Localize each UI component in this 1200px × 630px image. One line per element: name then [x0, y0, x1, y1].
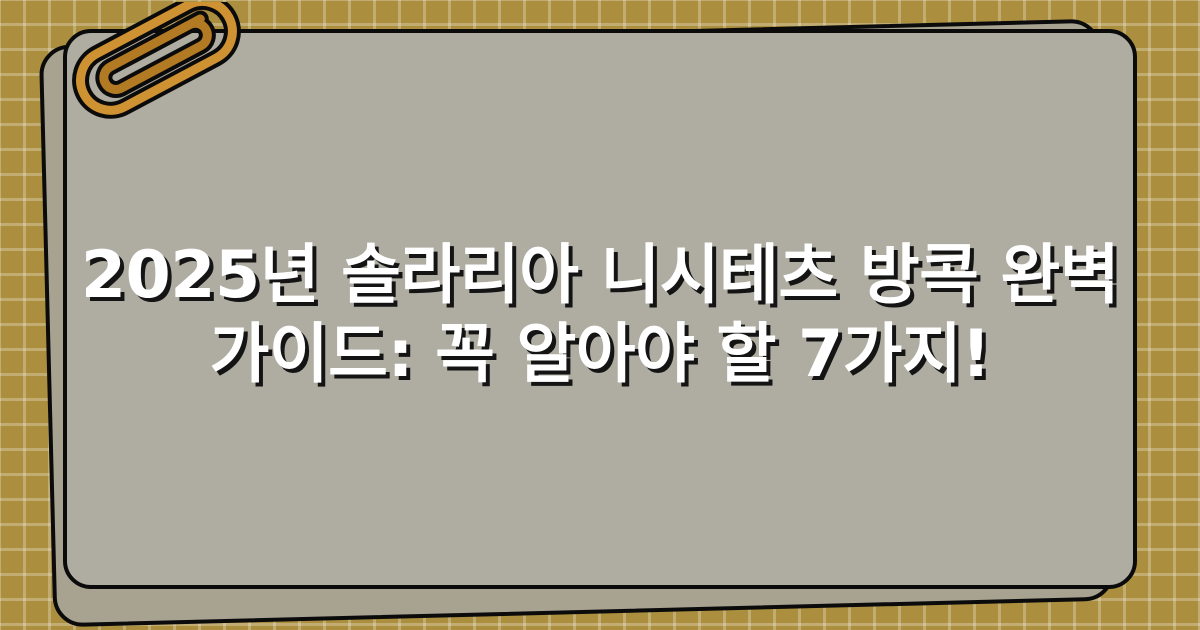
note-card-front — [63, 29, 1137, 589]
share-card-canvas: 2025년 솔라리아 니시테츠 방콕 완벽 가이드: 꼭 알아야 할 7가지! — [0, 0, 1200, 630]
